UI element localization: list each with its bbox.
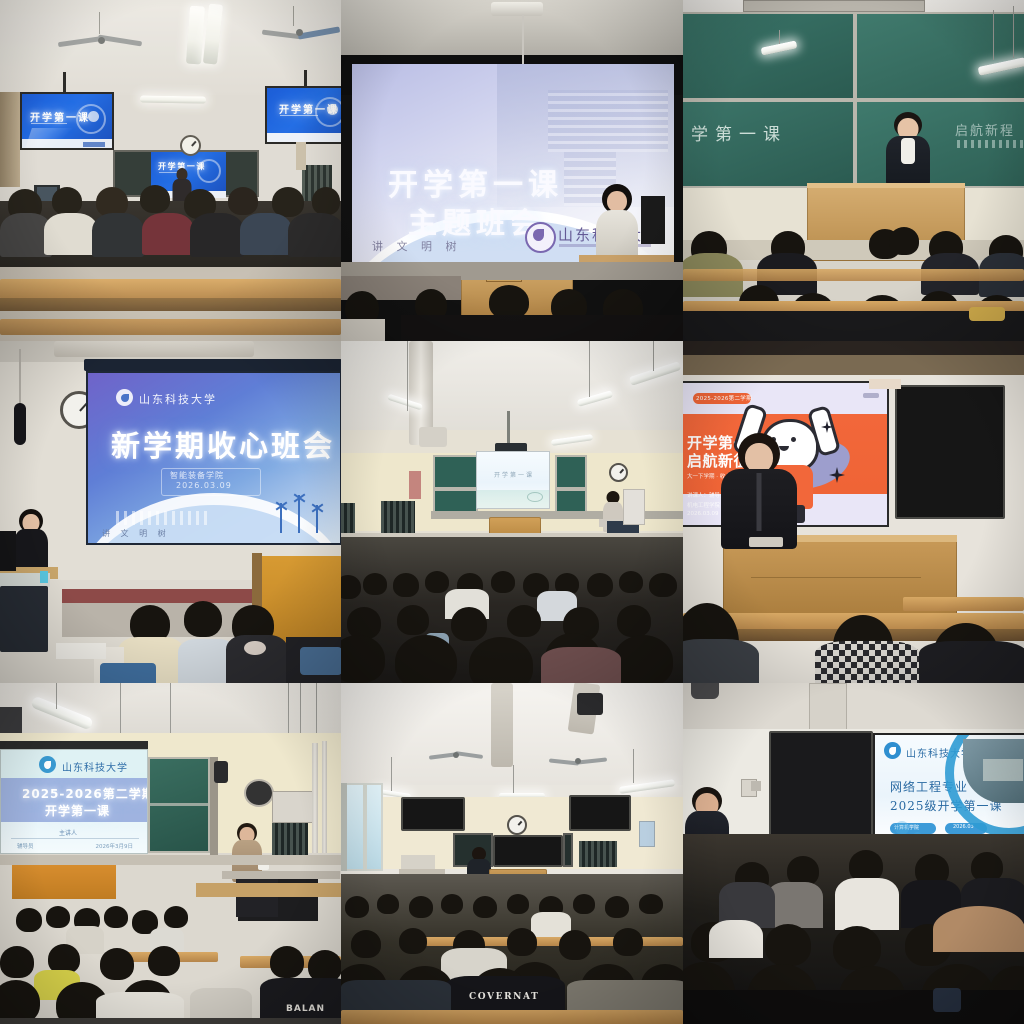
photo8-right-tv[interactable]	[569, 795, 631, 831]
photo2-ceiling-projector	[491, 2, 543, 16]
photo8-jacket-text: COVERNAT	[469, 992, 539, 1002]
photo5-chalkboard-right-lower	[555, 489, 587, 513]
photo8-air-duct	[491, 683, 513, 767]
photo4-slide-org: 山东科技大学	[139, 391, 217, 407]
photo-cell-2[interactable]: 开学第一课 主题班会 山东科技大学 讲 文 明 树	[341, 0, 683, 341]
photo8-audience: COVERNAT	[341, 874, 683, 1024]
photo-cell-6[interactable]: 2025-2026第二学期 开学第一课 启航新征程 大一下学期 · 收心教育 讲…	[683, 341, 1024, 683]
photo7-audience: BALAN	[0, 889, 341, 1024]
photo9-projection-slide[interactable]: 山东科技大学 网络工程专业 2025级开学第一课 计算机学院 2026.03	[873, 733, 1024, 847]
photo-cell-3[interactable]: 学第一课 启航新程	[683, 0, 1024, 341]
photo2-presenter	[596, 184, 638, 256]
photo4-projection-slide[interactable]: 山东科技大学 新学期收心班会 智能装备学院 2026.03.09	[86, 371, 341, 545]
photo1-right-tv[interactable]: 开学第一课	[265, 86, 341, 144]
photo5-chalkboard-right	[555, 455, 587, 489]
photo7-slide-meta-right: 2026年3月9日	[96, 842, 134, 850]
photo4-teacher	[14, 509, 48, 571]
photo2-slide-subtitle: 主题班会	[408, 200, 544, 242]
photo3-chalkboard-upper-left	[683, 12, 855, 100]
ceiling-fan-icon	[549, 755, 607, 767]
photo8-window	[341, 783, 383, 871]
photo3-chalkboard-right-text: 启航新程	[955, 120, 1015, 139]
photo8-center-panel[interactable]	[493, 835, 563, 867]
photo5-chalkboard-left-lower	[433, 489, 478, 513]
photo-cell-8[interactable]: COVERNAT	[341, 683, 683, 1024]
photo2-slide-title: 开学第一课	[388, 160, 563, 204]
photo6-slide-meta-3: 机电工程学院	[687, 501, 720, 509]
photo7-projection-slide[interactable]: 山东科技大学 2025-2026第二学期 开学第一课 主讲人 辅导员 2026年…	[0, 749, 148, 854]
photo4-windmill-icon	[274, 489, 326, 533]
photo6-audience	[683, 553, 1024, 683]
photo-collage: 开学第一课 开学第一课 开学第一课	[0, 0, 1024, 1024]
photo5-wall-clock-icon	[609, 463, 628, 482]
photo7-wall-speaker-icon	[244, 779, 274, 807]
photo4-hanging-microphone-icon	[14, 403, 26, 445]
photo7-slide-org: 山东科技大学	[62, 759, 128, 774]
ceiling-fan-icon	[58, 32, 142, 48]
photo7-electrical-box	[272, 823, 308, 855]
photo9-audience	[683, 834, 1024, 1024]
photo6-presenter	[721, 433, 797, 549]
photo2-slide-footer: 讲 文 明 树	[372, 238, 462, 254]
ceiling-fan-icon	[429, 749, 483, 761]
photo4-slide-subbox: 智能装备学院	[170, 470, 224, 481]
photo6-blackboard-panel	[895, 385, 1005, 519]
photo8-left-tv[interactable]	[401, 797, 465, 831]
photo7-slide-title-1: 2025-2026第二学期	[22, 785, 148, 802]
photo9-blackboard-panel	[769, 731, 873, 849]
fluorescent-tube-icon	[551, 434, 593, 446]
photo2-audience	[341, 285, 683, 341]
photo3-speaker	[886, 112, 930, 184]
photo4-audience	[0, 583, 341, 683]
photo-cell-7[interactable]: 山东科技大学 2025-2026第二学期 开学第一课 主讲人 辅导员 2026年…	[0, 683, 341, 1024]
photo-cell-4[interactable]: 山东科技大学 新学期收心班会 智能装备学院 2026.03.09	[0, 341, 341, 683]
photo5-center-projection[interactable]: 开学第一课	[476, 451, 550, 509]
photo7-slide-presenter: 主讲人	[59, 828, 77, 837]
photo-cell-5[interactable]: 开学第一课	[341, 341, 683, 683]
photo8-key-cabinet	[579, 841, 617, 867]
photo3-chalkboard-left-text: 学第一课	[691, 120, 787, 145]
photo6-slide-meta-2: 讲课人：辅导员	[687, 491, 726, 499]
photo1-wall-clock-icon	[180, 135, 201, 156]
photo-cell-1[interactable]: 开学第一课 开学第一课 开学第一课	[0, 0, 341, 341]
photo4-slide-date: 2026.03.09	[176, 481, 232, 490]
photo3-audience	[683, 216, 1024, 341]
photo6-slide-meta-4: 2026.03.09	[687, 511, 719, 517]
photo8-projector	[577, 693, 603, 715]
photo8-blackboard	[563, 833, 573, 867]
photo4-slide-footer: 讲 文 明 树	[102, 528, 170, 539]
photo3-chalkboard-upper-right	[855, 12, 1024, 100]
photo7-slide-title-2: 开学第一课	[45, 802, 110, 819]
photo5-chalkboard-left	[433, 455, 478, 489]
photo-cell-9[interactable]: 山东科技大学 网络工程专业 2025级开学第一课 计算机学院 2026.03	[683, 683, 1024, 1024]
photo8-wall-clock-icon	[507, 815, 527, 835]
photo1-audience	[0, 201, 341, 341]
photo4-slide-title: 新学期收心班会	[111, 423, 335, 465]
photo1-left-tv[interactable]: 开学第一课	[20, 92, 114, 150]
ceiling-fan-icon	[262, 24, 340, 42]
photo5-projection-title: 开学第一课	[494, 470, 534, 479]
photo7-slide-meta-left: 辅导员	[17, 842, 34, 850]
fluorescent-tube-icon	[140, 95, 206, 103]
photo5-audience	[341, 537, 683, 683]
photo7-jacket-text: BALAN	[286, 1004, 325, 1014]
